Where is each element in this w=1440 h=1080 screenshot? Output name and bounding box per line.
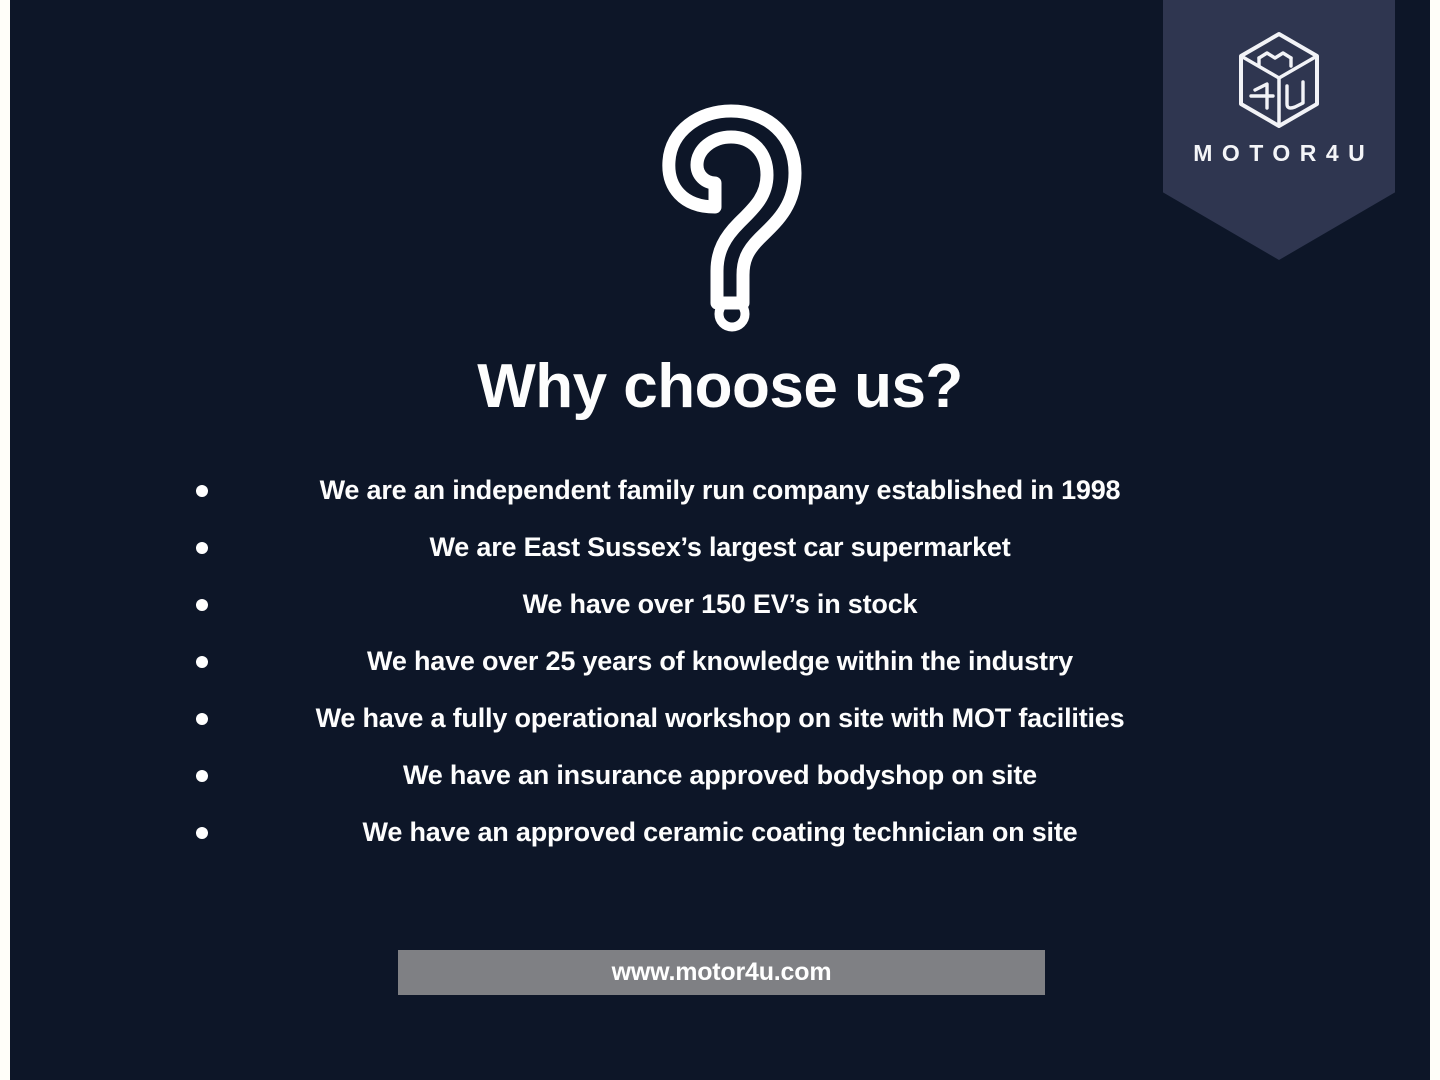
question-mark-icon: [655, 95, 820, 340]
list-item: We have over 25 years of knowledge withi…: [10, 637, 1430, 694]
motor4u-cube-icon: [1233, 30, 1325, 130]
brand-badge: MOTOR4U: [1163, 0, 1395, 260]
bullet-dot-icon: [196, 827, 208, 839]
bullet-dot-icon: [196, 713, 208, 725]
list-item-label: We have a fully operational workshop on …: [316, 694, 1125, 742]
list-item-label: We have over 150 EV’s in stock: [523, 580, 918, 628]
bullet-dot-icon: [196, 656, 208, 668]
list-item: We have an approved ceramic coating tech…: [10, 808, 1430, 865]
list-item-label: We are an independent family run company…: [320, 466, 1121, 514]
website-url-label: www.motor4u.com: [612, 958, 832, 987]
bullet-dot-icon: [196, 485, 208, 497]
list-item-label: We have an insurance approved bodyshop o…: [403, 751, 1037, 799]
benefits-list: We are an independent family run company…: [10, 466, 1430, 856]
list-item-label: We have over 25 years of knowledge withi…: [367, 637, 1073, 685]
list-item: We have over 150 EV’s in stock: [10, 580, 1430, 637]
slide-canvas: MOTOR4U Why choose us? We are an indepen…: [10, 0, 1430, 1080]
list-item-label: We are East Sussex’s largest car superma…: [429, 523, 1010, 571]
page-title: Why choose us?: [10, 352, 1430, 422]
bullet-dot-icon: [196, 542, 208, 554]
bullet-dot-icon: [196, 599, 208, 611]
brand-wordmark: MOTOR4U: [1163, 140, 1395, 167]
list-item-label: We have an approved ceramic coating tech…: [363, 808, 1078, 856]
slide-root: MOTOR4U Why choose us? We are an indepen…: [0, 0, 1440, 1080]
list-item: We have a fully operational workshop on …: [10, 694, 1430, 751]
bullet-dot-icon: [196, 770, 208, 782]
list-item: We are an independent family run company…: [10, 466, 1430, 523]
list-item: We have an insurance approved bodyshop o…: [10, 751, 1430, 808]
list-item: We are East Sussex’s largest car superma…: [10, 523, 1430, 580]
website-url-bar[interactable]: www.motor4u.com: [398, 950, 1045, 995]
